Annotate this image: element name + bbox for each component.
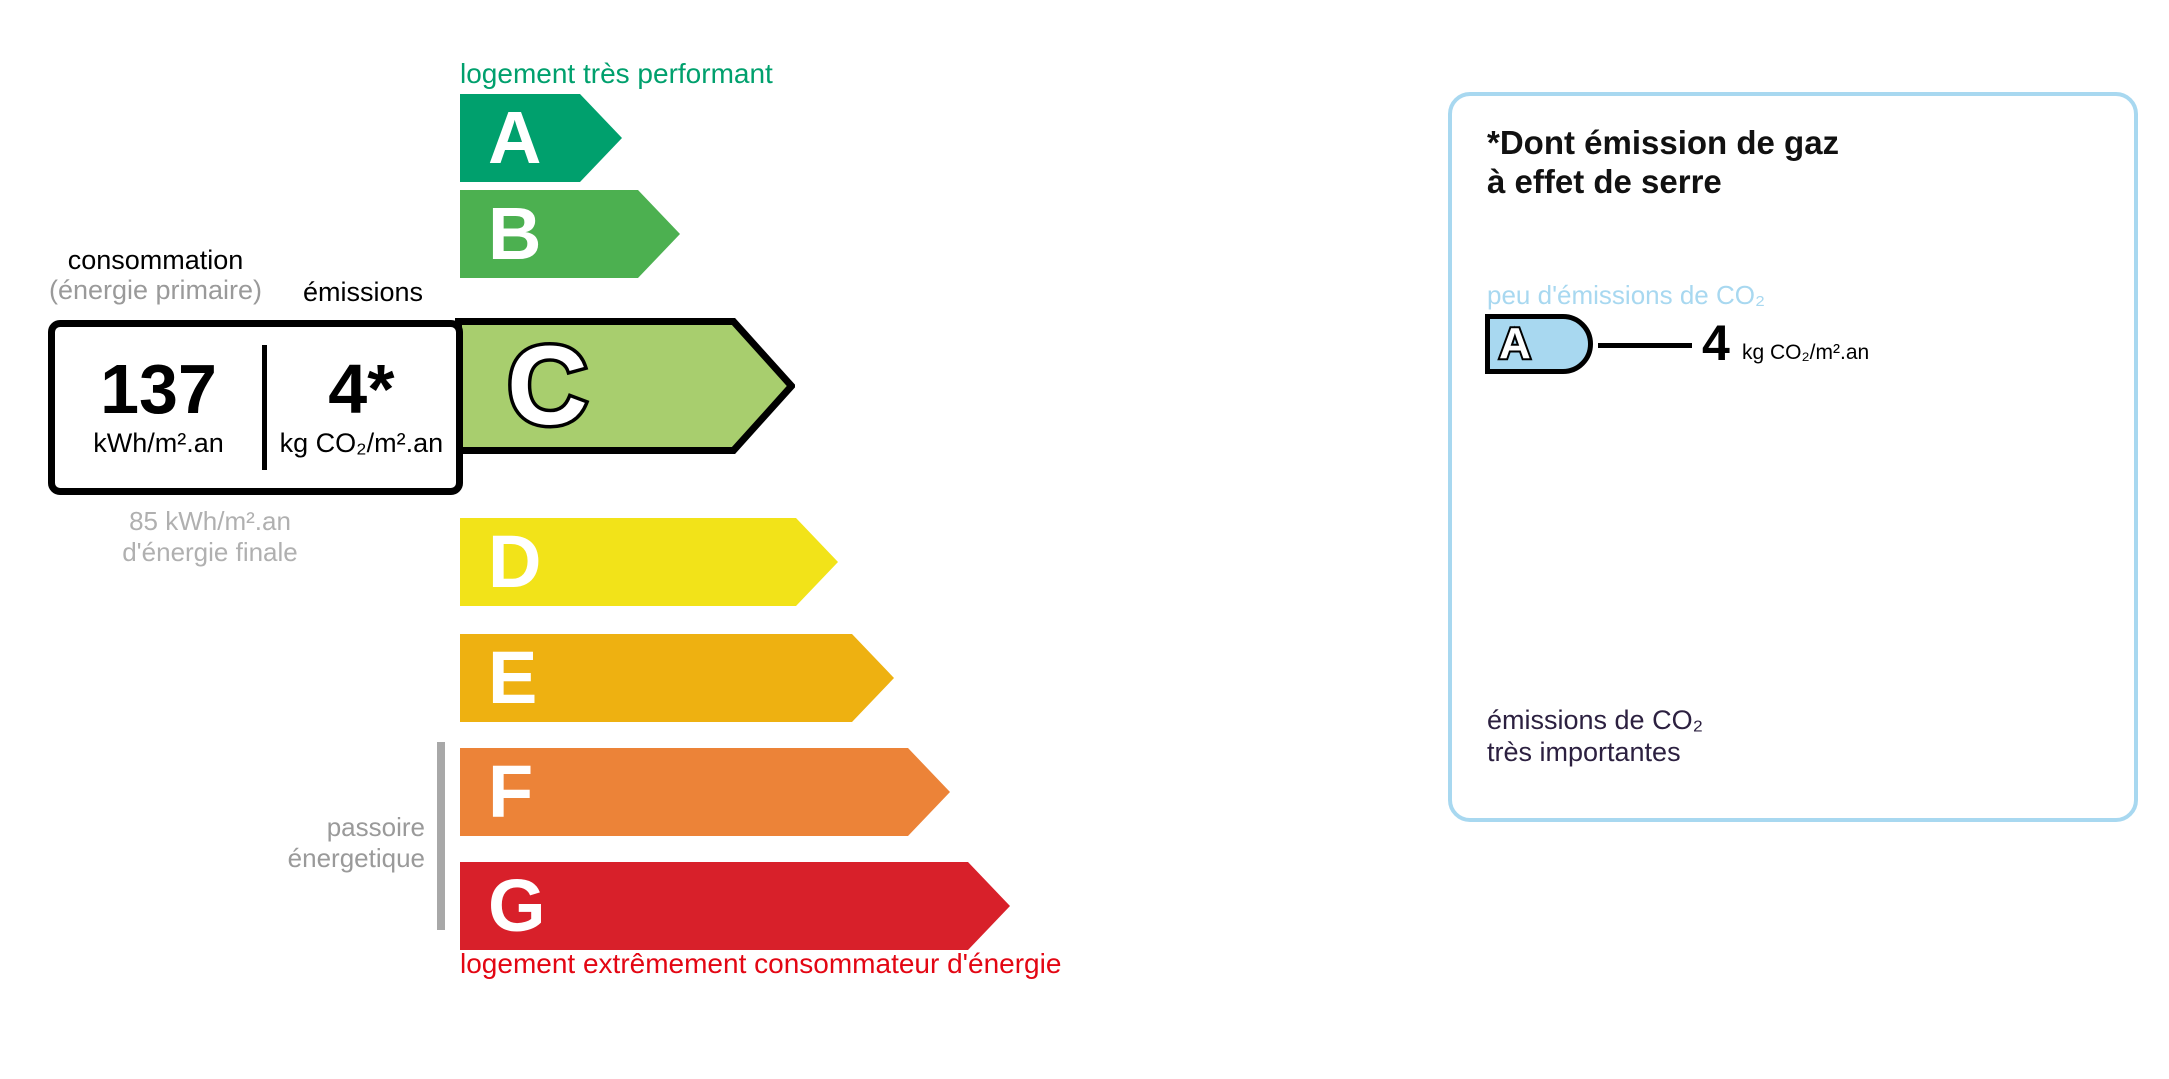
band-arrow-shape [455, 318, 795, 454]
consumption-unit: kWh/m².an [93, 428, 224, 459]
co2-bar-letter-g: G [1501, 630, 1525, 661]
band-letter-e: E [488, 641, 536, 715]
consumption-label: consommation (énergie primaire) [48, 245, 263, 305]
band-arrow-shape [460, 94, 622, 182]
band-letter-d: D [488, 525, 540, 599]
consumption-cell: 137 kWh/m².an [55, 327, 262, 488]
value-summary-box: 137 kWh/m².an 4* kg CO₂/m².an [48, 320, 463, 495]
band-letter-c: C [507, 330, 587, 442]
final-energy-line2: d'énergie finale [60, 537, 360, 568]
co2-bar-c: C [1487, 434, 1643, 473]
co2-bar-b: B [1487, 386, 1609, 425]
energy-band-e: E [460, 634, 894, 722]
passoire-line1: passoire [250, 812, 425, 843]
co2-value: 4 [1702, 318, 1730, 368]
band-letter-f: F [488, 755, 532, 829]
band-letter-b: B [488, 197, 540, 271]
co2-bar-a-letter: A [1499, 322, 1531, 366]
emissions-cell: 4* kg CO₂/m².an [267, 327, 456, 488]
co2-bar-letter-b: B [1501, 390, 1523, 421]
energy-band-f: F [460, 748, 950, 836]
co2-bottom-caption-line2: très importantes [1487, 736, 1703, 768]
energy-band-b: B [460, 190, 680, 278]
energy-band-g: G [460, 862, 1010, 950]
co2-bottom-caption-line1: émissions de CO₂ [1487, 704, 1703, 736]
co2-title-line1: *Dont émission de gaz [1487, 124, 1839, 163]
co2-bar-d: D [1487, 482, 1677, 521]
co2-value-unit: kg CO₂/m².an [1742, 341, 1869, 365]
scale-top-caption: logement très performant [460, 58, 773, 90]
co2-bar-g: G [1487, 626, 1779, 665]
consumption-label-line1: consommation [48, 245, 263, 275]
emissions-value: 4* [328, 356, 394, 423]
scale-bottom-caption: logement extrêmement consommateur d'éner… [460, 948, 1061, 980]
band-arrow-shape [460, 748, 950, 836]
emissions-unit: kg CO₂/m².an [280, 428, 444, 459]
co2-top-caption: peu d'émissions de CO₂ [1487, 280, 1765, 311]
co2-leader-line [1598, 343, 1692, 348]
co2-bottom-caption: émissions de CO₂ très importantes [1487, 704, 1703, 769]
co2-bar-a-highlighted: A [1485, 314, 1593, 374]
consumption-value: 137 [100, 356, 217, 423]
passoire-line2: énergetique [250, 843, 425, 874]
co2-bar-letter-d: D [1501, 486, 1523, 517]
energy-class-scale: logement très performant ABCDEFG consomm… [0, 0, 1400, 1079]
energy-band-d: D [460, 518, 838, 606]
co2-bar-letter-c: C [1501, 438, 1523, 469]
co2-panel-title: *Dont émission de gaz à effet de serre [1487, 124, 1839, 202]
energy-band-c: C [455, 318, 795, 454]
co2-title-line2: à effet de serre [1487, 163, 1839, 202]
consumption-label-line2: (énergie primaire) [48, 275, 263, 305]
band-letter-a: A [488, 101, 540, 175]
emissions-label: émissions [268, 277, 458, 308]
co2-bar-letter-f: F [1501, 582, 1520, 613]
co2-bar-e: E [1487, 530, 1711, 569]
co2-emissions-panel: *Dont émission de gaz à effet de serre p… [1448, 92, 2138, 822]
passoire-label: passoire énergetique [250, 812, 425, 874]
band-letter-g: G [488, 869, 545, 943]
energy-band-a: A [460, 94, 622, 182]
final-energy-note: 85 kWh/m².an d'énergie finale [60, 506, 360, 568]
co2-bar-letter-e: E [1501, 534, 1522, 565]
co2-bar-f: F [1487, 578, 1745, 617]
final-energy-line1: 85 kWh/m².an [60, 506, 360, 537]
passoire-indicator-bar [437, 742, 445, 930]
